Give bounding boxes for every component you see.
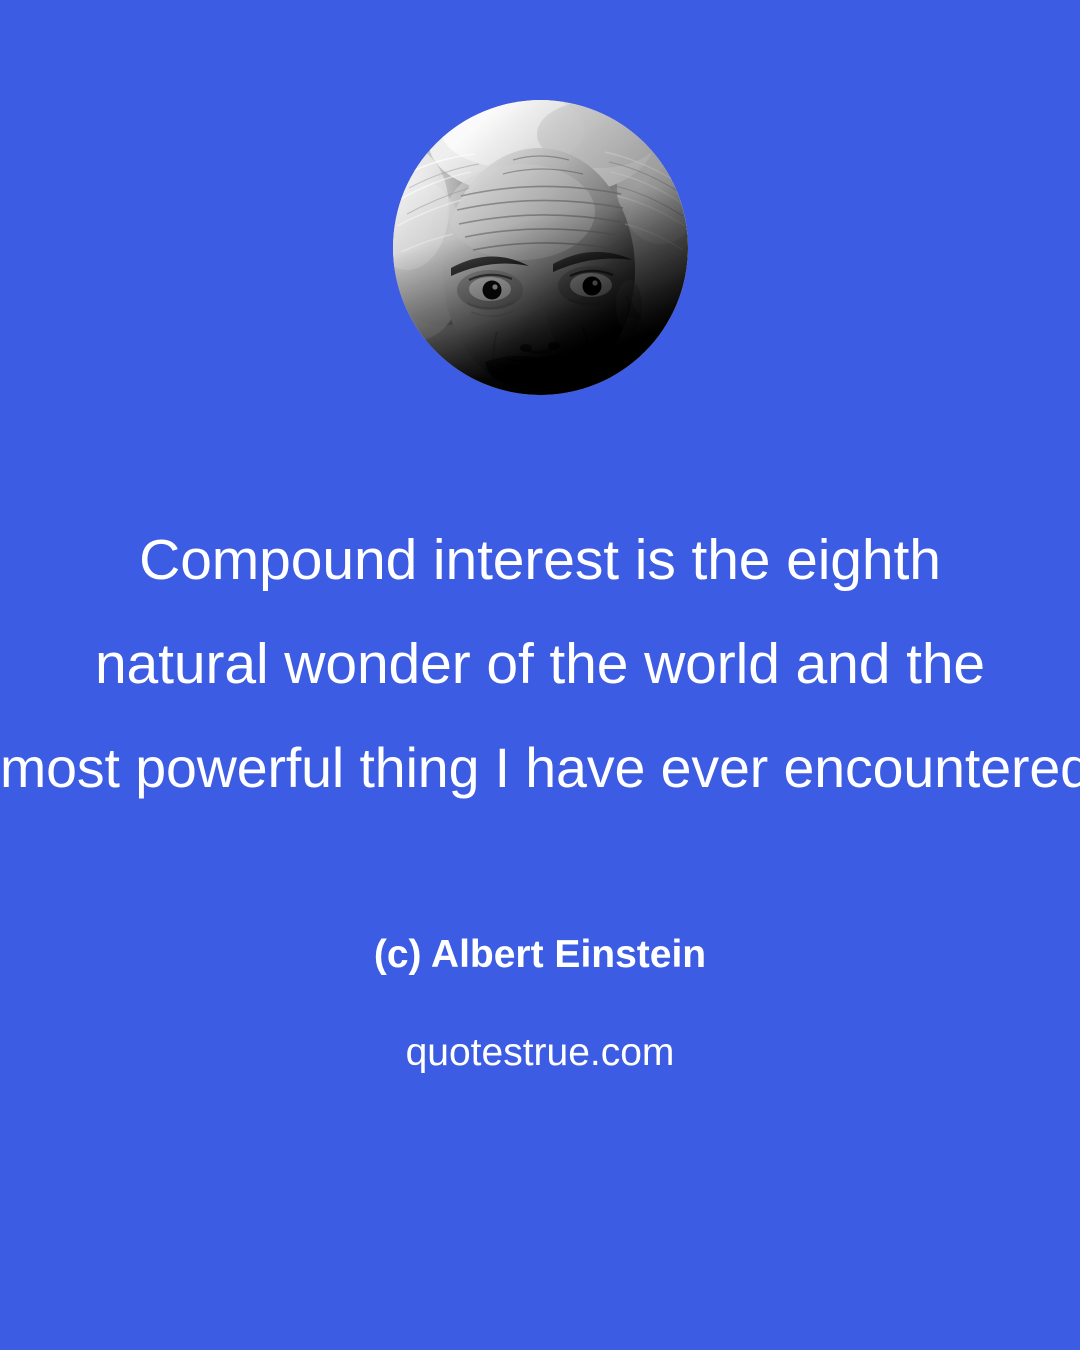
quote-card: Compound interest is the eighth natural … — [0, 0, 1080, 1350]
quote-line-1: Compound interest is the eighth — [0, 508, 1080, 612]
avatar — [393, 100, 688, 395]
source-website: quotestrue.com — [0, 1024, 1080, 1082]
quote-attribution: (c) Albert Einstein — [0, 926, 1080, 984]
quote-line-3: most powerful thing I have ever encounte… — [0, 716, 1080, 820]
quote-text: Compound interest is the eighth natural … — [0, 508, 1080, 820]
albert-einstein-portrait-icon — [393, 100, 688, 395]
quote-line-2: natural wonder of the world and the — [0, 612, 1080, 716]
